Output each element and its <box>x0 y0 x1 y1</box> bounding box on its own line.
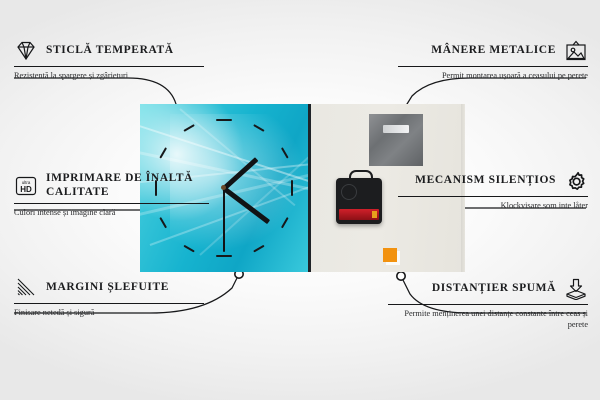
svg-text:HD: HD <box>20 185 32 194</box>
callout-subtitle: Rezistentă la spargere și zgârieturi <box>14 71 204 82</box>
clock-tick <box>160 217 167 228</box>
callout-title: MARGINI ȘLEFUITE <box>46 281 169 295</box>
metal-hanger-plate <box>369 114 423 166</box>
polished-edge-icon <box>14 277 38 299</box>
callout-header: MÂNERE METALICE <box>398 40 588 62</box>
callout-high-quality-print: ultra HD IMPRIMARE DE ÎNALTĂ CALITATE Cu… <box>14 172 209 219</box>
callout-header: DISTANȚIER SPUMĂ <box>388 278 588 300</box>
callout-header: MARGINI ȘLEFUITE <box>14 277 204 299</box>
callout-subtitle: Finisare netedă și sigură <box>14 308 204 319</box>
diamond-icon <box>14 40 38 62</box>
callout-metal-handles: MÂNERE METALICE Permit montarea ușoară a… <box>398 40 588 82</box>
callout-header: MECANISM SILENȚIOS <box>398 170 588 192</box>
callout-title: MÂNERE METALICE <box>431 44 556 58</box>
callout-title: STICLĂ TEMPERATĂ <box>46 44 174 58</box>
picture-hanger-icon <box>564 40 588 62</box>
callout-subtitle: Culori intense și imagine clară <box>14 208 209 219</box>
hanger-slot <box>383 125 409 133</box>
callout-tempered-glass: STICLĂ TEMPERATĂ Rezistentă la spargere … <box>14 40 204 82</box>
callout-subtitle: Permite menținerea unei distanțe constan… <box>388 309 588 330</box>
callout-silent-mechanism: MECANISM SILENȚIOS Klockvisare som inte … <box>398 170 588 212</box>
callout-rule <box>14 203 209 204</box>
second-hand <box>223 188 225 252</box>
clock-tick <box>216 255 232 257</box>
callout-header: ultra HD IMPRIMARE DE ÎNALTĂ CALITATE <box>14 172 209 199</box>
callout-foam-spacer: DISTANȚIER SPUMĂ Permite menținerea unei… <box>388 278 588 330</box>
callout-rule <box>14 66 204 67</box>
infographic-canvas: STICLĂ TEMPERATĂ Rezistentă la spargere … <box>0 0 600 400</box>
callout-rule <box>398 66 588 67</box>
clock-mechanism <box>336 178 382 224</box>
foam-spacer-pad <box>383 248 397 262</box>
battery <box>339 209 379 220</box>
clock-tick <box>216 119 232 121</box>
callout-subtitle: Permit montarea ușoară a ceasului pe per… <box>398 71 588 82</box>
mechanism-dial <box>341 184 357 200</box>
hanger-loop <box>349 170 373 184</box>
callout-title: MECANISM SILENȚIOS <box>415 174 556 188</box>
callout-polished-edges: MARGINI ȘLEFUITE Finisare netedă și sigu… <box>14 277 204 319</box>
callout-rule <box>14 303 204 304</box>
callout-title: IMPRIMARE DE ÎNALTĂ CALITATE <box>46 172 209 199</box>
gear-icon <box>564 170 588 192</box>
press-pad-icon <box>564 278 588 300</box>
callout-header: STICLĂ TEMPERATĂ <box>14 40 204 62</box>
clock-center-hub <box>221 185 226 190</box>
callout-subtitle: Klockvisare som inte låter <box>398 201 588 212</box>
ultra-hd-icon: ultra HD <box>14 175 38 197</box>
callout-rule <box>398 196 588 197</box>
clock-tick <box>291 180 293 196</box>
callout-title: DISTANȚIER SPUMĂ <box>432 282 556 296</box>
callout-rule <box>388 304 588 305</box>
